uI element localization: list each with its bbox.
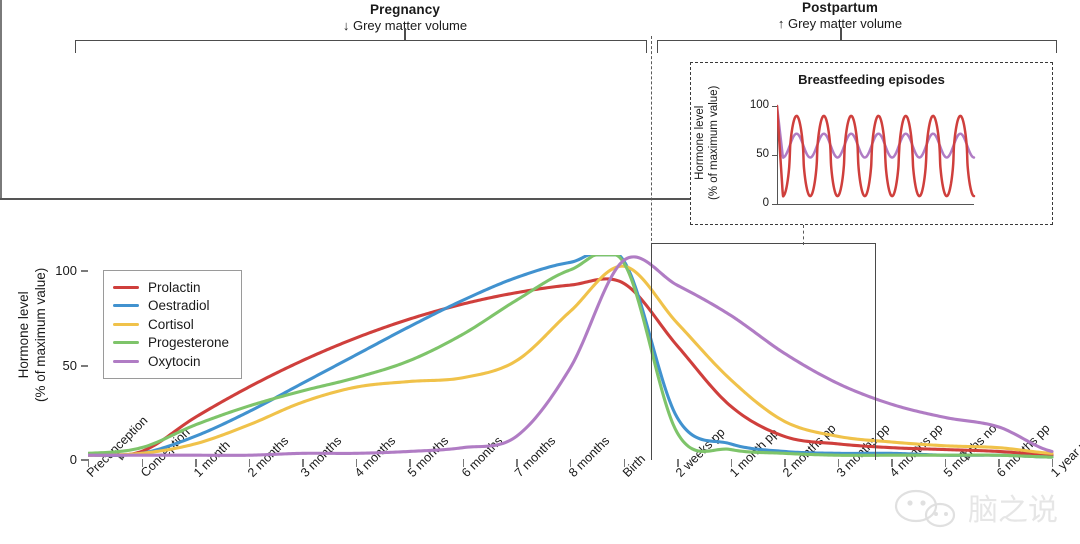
postpartum-header: Postpartum ↑ Grey matter volume (690, 0, 990, 31)
y-tick-0 (81, 459, 88, 461)
legend-item-oxytocin[interactable]: Oxytocin (113, 352, 229, 371)
inset-y-label-50: 50 (743, 148, 769, 160)
y-axis-title-line1: Hormone level (16, 240, 33, 430)
legend-item-progesterone[interactable]: Progesterone (113, 334, 229, 353)
legend: Prolactin Oestradiol Cortisol Progestero… (103, 270, 242, 379)
legend-swatch-progesterone (113, 341, 139, 344)
legend-item-prolactin[interactable]: Prolactin (113, 278, 229, 297)
y-tick-label-50: 50 (37, 358, 77, 373)
legend-label-progesterone: Progesterone (148, 335, 229, 350)
legend-label-oxytocin: Oxytocin (148, 354, 201, 369)
postpartum-bracket-stem (840, 28, 842, 40)
legend-label-prolactin: Prolactin (148, 280, 201, 295)
breastfeeding-inset: Breastfeeding episodes Hormone level (% … (690, 62, 1053, 225)
inset-y-label-0: 0 (743, 197, 769, 209)
inset-title: Breastfeeding episodes (691, 72, 1052, 87)
inset-curve-oxytocin (777, 106, 974, 158)
y-tick-label-100: 100 (37, 263, 77, 278)
legend-swatch-prolactin (113, 286, 139, 289)
inset-y-label-100: 100 (743, 99, 769, 111)
postpartum-title: Postpartum (690, 0, 990, 16)
legend-item-cortisol[interactable]: Cortisol (113, 315, 229, 334)
legend-label-oestradiol: Oestradiol (148, 298, 210, 313)
y-tick-label-0: 0 (37, 452, 77, 467)
inset-y-title-line1: Hormone level (694, 68, 708, 218)
legend-swatch-oxytocin (113, 360, 139, 363)
inset-highlight-box (651, 243, 876, 460)
inset-hormone-curves (777, 102, 977, 207)
legend-swatch-oestradiol (113, 304, 139, 307)
legend-item-oestradiol[interactable]: Oestradiol (113, 297, 229, 316)
pregnancy-bracket-stem (404, 28, 406, 40)
y-tick-50 (81, 365, 88, 367)
watermark: 脑之说 (882, 480, 1072, 534)
inset-y-title-line2: (% of maximum value) (708, 68, 722, 218)
birth-dashed-line (651, 36, 652, 256)
svg-text:脑之说: 脑之说 (968, 494, 1058, 527)
y-tick-100 (81, 270, 88, 272)
inset-connector-line (803, 225, 804, 245)
pregnancy-bracket (75, 40, 647, 53)
inset-y-axis-title: Hormone level (% of maximum value) (694, 68, 722, 218)
y-axis-line (0, 0, 2, 198)
figure-root: Pregnancy ↓ Grey matter volume Postpartu… (0, 0, 1080, 544)
legend-swatch-cortisol (113, 323, 139, 326)
legend-label-cortisol: Cortisol (148, 317, 194, 332)
postpartum-bracket (657, 40, 1057, 53)
pregnancy-title: Pregnancy (205, 2, 605, 18)
